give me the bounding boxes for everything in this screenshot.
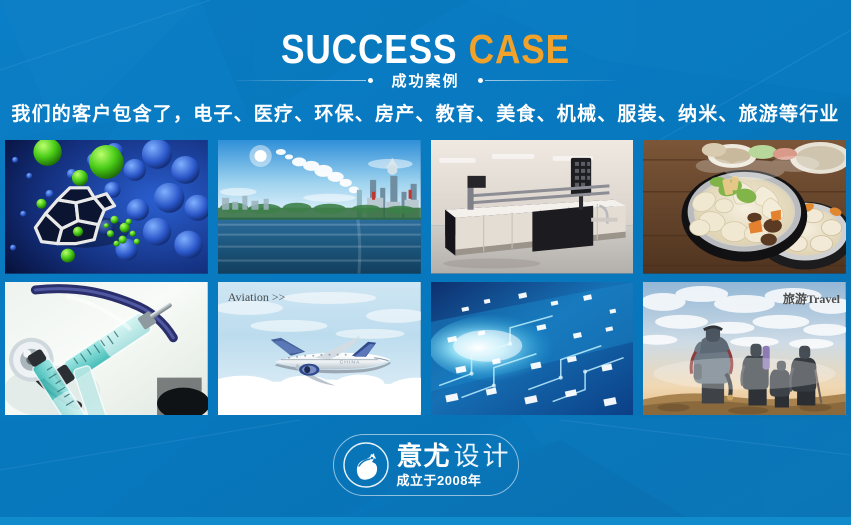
aviation-caption: Aviation >> — [228, 290, 286, 305]
subtitle-chinese: 成功案例 — [375, 70, 475, 91]
case-cell-medical[interactable] — [5, 282, 208, 416]
case-image-grid: CHINA Aviation >> — [5, 140, 846, 415]
environmental-plant-image — [218, 140, 421, 274]
travel-caption: 旅游Travel — [783, 290, 840, 307]
company-logo[interactable]: 意尤设计 成立于2008年 — [333, 434, 519, 496]
case-cell-lab[interactable] — [431, 140, 634, 274]
logo-founded-year: 成立于2008年 — [397, 474, 512, 487]
medical-syringe-image — [5, 282, 208, 416]
bird-pen-mark-icon — [343, 442, 389, 488]
title-success: SUCCESS — [281, 26, 457, 72]
decorative-dot-left — [368, 78, 373, 83]
case-cell-aviation[interactable]: CHINA Aviation >> — [218, 282, 421, 416]
case-cell-nano[interactable] — [5, 140, 208, 274]
lab-furniture-image — [431, 140, 634, 274]
case-cell-environment[interactable] — [218, 140, 421, 274]
tagline: 我们的客户包含了，电子、医疗、环保、房产、教育、美食、机械、服装、纳米、旅游等行… — [0, 99, 851, 126]
case-cell-food[interactable] — [643, 140, 846, 274]
header: SUCCESSCASE 成功案例 我们的客户包含了，电子、医疗、环保、房产、教育… — [0, 0, 851, 140]
nanotech-molecule-image — [5, 140, 208, 274]
hotpot-food-image — [643, 140, 846, 274]
case-cell-travel[interactable]: 旅游Travel — [643, 282, 846, 416]
decorative-line-right — [476, 78, 615, 83]
logo-text-block: 意尤设计 成立于2008年 — [397, 443, 512, 487]
electronics-circuit-image — [431, 282, 634, 416]
decorative-line-left — [236, 78, 375, 83]
title-case: CASE — [469, 26, 570, 72]
logo-name: 意尤设计 — [397, 443, 512, 469]
subtitle-row: 成功案例 — [0, 68, 851, 92]
case-cell-electronics[interactable] — [431, 282, 634, 416]
decorative-dot-right — [478, 78, 483, 83]
bottom-accent-strip — [0, 517, 851, 525]
logo-name-bold: 意尤 — [397, 441, 451, 471]
page-title: SUCCESSCASE — [60, 26, 792, 73]
logo-name-light: 设计 — [454, 441, 512, 471]
svg-text:CHINA: CHINA — [339, 359, 360, 365]
